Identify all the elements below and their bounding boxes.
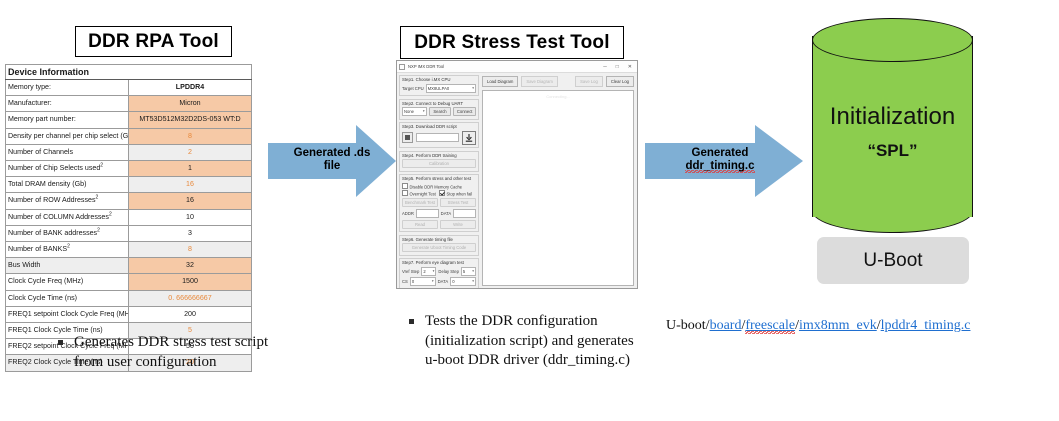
log-toolbar: Load Diagram Save Diagram Save Log Clear… xyxy=(482,76,634,87)
row-value: 8 xyxy=(129,128,252,144)
table-row: Memory type:LPDDR4 xyxy=(6,80,252,96)
row-label: Number of ROW Addresses2 xyxy=(6,193,129,209)
table-row: Number of Channels2 xyxy=(6,144,252,160)
window-controls[interactable]: ─ □ ✕ xyxy=(603,64,635,70)
chevron-down-icon: ▾ xyxy=(472,269,474,274)
step3-row xyxy=(402,131,476,145)
write-eye-button[interactable]: WRITE EYE xyxy=(440,288,476,290)
path-link-freescale[interactable]: freescale xyxy=(745,318,795,334)
row-value: 200 xyxy=(129,306,252,322)
chevron-down-icon: ▾ xyxy=(432,279,434,284)
initialization-spl-cylinder: Initialization “SPL” xyxy=(812,18,975,235)
step5-caption: Step5. Perform stress and other test xyxy=(402,176,476,181)
eye-data-label: DATA xyxy=(438,279,449,284)
connect-button[interactable]: Connect xyxy=(453,107,476,116)
stress-test-button[interactable]: Stress Test xyxy=(440,198,476,207)
step6-caption: Step6. Generate timing file xyxy=(402,237,476,242)
bullet-item: Generates DDR stress test script from us… xyxy=(54,333,289,372)
step2-row: None ▾ Search Connect xyxy=(402,107,476,116)
cylinder-text: Initialization “SPL” xyxy=(812,103,973,162)
row-value: 16 xyxy=(129,193,252,209)
save-log-button[interactable]: Save Log xyxy=(575,76,603,87)
row-label: Number of Chip Selects used2 xyxy=(6,161,129,177)
row-label: Number of BANK addresses2 xyxy=(6,225,129,241)
disable-cache-checkbox[interactable] xyxy=(402,183,408,189)
overnight-stopfail-row[interactable]: Overnight Test Stop when fail xyxy=(402,190,476,197)
arrow1-label-line2: file xyxy=(324,160,341,172)
row-label-superscript: 2 xyxy=(109,211,112,217)
row-value: 0. 666666667 xyxy=(129,290,252,306)
uart-port-select[interactable]: None ▾ xyxy=(402,107,427,116)
row-label: Memory type: xyxy=(6,80,129,96)
path-link-lpddr4-timing-c[interactable]: lpddr4_timing.c xyxy=(881,318,971,333)
row-value: 10 xyxy=(129,209,252,225)
step1-group: Step1. Choose i.MX CPU Target CPU MX8ULP… xyxy=(399,75,479,96)
delay-step-label: Delay Step xyxy=(438,269,458,274)
addr-input[interactable] xyxy=(416,209,439,218)
row-value: LPDDR4 xyxy=(129,80,252,96)
arrow1-label-line1: Generated .ds xyxy=(294,147,371,159)
table-header-row: Device Information xyxy=(6,65,252,80)
save-diagram-button[interactable]: Save Diagram xyxy=(521,76,558,87)
step4-row: Calibration xyxy=(402,159,476,168)
step4-group: Step4. Perform DDR training Calibration xyxy=(399,151,479,172)
minimize-icon[interactable]: ─ xyxy=(603,64,607,70)
eye-data-value: 0 xyxy=(452,279,454,284)
arrow-generated-ds-file: Generated .ds file xyxy=(268,125,396,197)
step6-group: Step6. Generate timing file Generate Ubo… xyxy=(399,235,479,256)
cs-select[interactable]: 0 ▾ xyxy=(410,277,436,286)
row-label: Clock Cycle Freq (MHz) xyxy=(6,274,129,290)
ddr-script-path-input[interactable] xyxy=(416,133,459,142)
step6-row: Generate Uboot Timing Code xyxy=(402,243,476,252)
table-row: Manufacturer:Micron xyxy=(6,96,252,112)
ddr-rpa-tool-title: DDR RPA Tool xyxy=(75,26,232,57)
browse-file-icon[interactable] xyxy=(402,132,413,143)
stop-when-fail-label: Stop when fail xyxy=(446,192,472,197)
step7-vref-row: Vref Step 2 ▾ Delay Step 5 ▾ xyxy=(402,267,476,276)
delay-step-select[interactable]: 5 ▾ xyxy=(461,267,476,276)
step7-group: Step7. Perform eye diagram test Vref Ste… xyxy=(399,258,479,289)
uboot-source-path: U-boot/board/freescale/imx8mm_evk/lpddr4… xyxy=(666,318,1059,334)
step4-caption: Step4. Perform DDR training xyxy=(402,153,476,158)
table-row: Bus Width32 xyxy=(6,258,252,274)
uart-port-value: None xyxy=(404,109,414,114)
step7-cs-row: CS 0 ▾ DATA 0 ▾ xyxy=(402,277,476,286)
device-information-table: Device Information Memory type:LPDDR4Man… xyxy=(5,64,252,372)
row-label: Number of COLUMN Addresses2 xyxy=(6,209,129,225)
step3-group: Step3. Download DDR script xyxy=(399,122,479,148)
table-row: Clock Cycle Freq (MHz)1500 xyxy=(6,274,252,290)
uboot-label: U-Boot xyxy=(863,250,922,272)
bullet-item: Tests the DDR configuration (initializat… xyxy=(405,312,643,371)
disable-cache-checkbox-row[interactable]: Disable DDR Memory Cache xyxy=(402,183,476,190)
step3-caption: Step3. Download DDR script xyxy=(402,124,476,129)
row-value: 16 xyxy=(129,177,252,193)
row-value: 8 xyxy=(129,242,252,258)
write-button[interactable]: Write xyxy=(440,220,476,229)
chevron-down-icon: ▾ xyxy=(472,279,474,284)
read-eye-button[interactable]: READ EYE xyxy=(402,288,438,290)
step2-caption: Step2. Connect to Debug UART xyxy=(402,101,476,106)
arrow2-label: Generated ddr_timing.c xyxy=(637,147,803,173)
log-placeholder-text: Connecting... xyxy=(546,94,570,99)
step7-eye-buttons: READ EYE WRITE EYE xyxy=(402,288,476,290)
cs-value: 0 xyxy=(412,279,414,284)
benchmark-test-button[interactable]: Benchmark Test xyxy=(402,198,438,207)
log-panel: Load Diagram Save Diagram Save Log Clear… xyxy=(481,73,637,289)
table-row: Number of BANKS28 xyxy=(6,242,252,258)
app-icon xyxy=(399,64,405,70)
row-value: 1 xyxy=(129,161,252,177)
arrow2-label-line1: Generated xyxy=(692,147,749,159)
vref-step-value: 2 xyxy=(423,269,425,274)
read-button[interactable]: Read xyxy=(402,220,438,229)
path-link-board[interactable]: board xyxy=(710,318,742,333)
close-icon[interactable]: ✕ xyxy=(628,64,632,70)
row-label: Memory part number: xyxy=(6,112,129,128)
table-row: Memory part number:MT53D512M32D2DS-053 W… xyxy=(6,112,252,128)
disable-cache-label: Disable DDR Memory Cache xyxy=(410,184,463,189)
step1-caption: Step1. Choose i.MX CPU xyxy=(402,77,476,82)
row-label: Bus Width xyxy=(6,258,129,274)
cs-label: CS xyxy=(402,279,408,284)
row-label-superscript: 2 xyxy=(100,163,103,169)
table-row: Clock Cycle Time (ns)0. 666666667 xyxy=(6,290,252,306)
addr-label: ADDR xyxy=(402,211,414,216)
window-titlebar: NXP IMX DDR Tool ─ □ ✕ xyxy=(397,61,637,73)
row-label: FREQ1 setpoint Clock Cycle Freq (MHz) xyxy=(6,306,129,322)
step1-row: Target CPU MX8ULPA0 ▾ xyxy=(402,84,476,93)
table-row: Density per channel per chip select (Gb)… xyxy=(6,128,252,144)
row-label: Density per channel per chip select (Gb)… xyxy=(6,128,129,144)
rpa-tool-description: Generates DDR stress test script from us… xyxy=(54,333,289,372)
row-label: Number of Channels xyxy=(6,144,129,160)
search-button[interactable]: Search xyxy=(429,107,452,116)
vref-step-label: Vref Step xyxy=(402,269,419,274)
delay-step-value: 5 xyxy=(463,269,465,274)
download-icon[interactable] xyxy=(462,131,476,145)
table-row: Number of BANK addresses23 xyxy=(6,225,252,241)
table-row: Number of Chip Selects used21 xyxy=(6,161,252,177)
step5-group: Step5. Perform stress and other test Dis… xyxy=(399,174,479,232)
step7-caption: Step7. Perform eye diagram test xyxy=(402,260,476,265)
window-title: NXP IMX DDR Tool xyxy=(408,64,444,69)
row-value: 3 xyxy=(129,225,252,241)
row-label: Manufacturer: xyxy=(6,96,129,112)
table-row: Number of COLUMN Addresses210 xyxy=(6,209,252,225)
target-cpu-value: MX8ULPA0 xyxy=(428,86,450,91)
row-label-superscript: 2 xyxy=(96,195,99,201)
row-label: Number of BANKS2 xyxy=(6,242,129,258)
stress-tool-description: Tests the DDR configuration (initializat… xyxy=(405,312,643,371)
window-body: Step1. Choose i.MX CPU Target CPU MX8ULP… xyxy=(397,73,637,289)
log-textarea[interactable]: Connecting... xyxy=(482,90,634,286)
overnight-test-checkbox[interactable] xyxy=(402,190,408,196)
chevron-down-icon: ▾ xyxy=(472,86,474,91)
row-label-superscript: 2 xyxy=(67,244,70,250)
chevron-down-icon: ▾ xyxy=(433,269,435,274)
ddr-stress-test-tool-window[interactable]: NXP IMX DDR Tool ─ □ ✕ Step1. Choose i.M… xyxy=(396,60,638,289)
arrow1-label: Generated .ds file xyxy=(268,147,396,173)
row-value: Micron xyxy=(129,96,252,112)
table-row: FREQ1 setpoint Clock Cycle Freq (MHz)200 xyxy=(6,306,252,322)
cylinder-top-ellipse xyxy=(812,18,973,62)
vref-step-select[interactable]: 2 ▾ xyxy=(421,267,436,276)
row-label: Clock Cycle Time (ns) xyxy=(6,290,129,306)
ddr-stress-test-tool-title: DDR Stress Test Tool xyxy=(400,26,624,59)
chevron-down-icon: ▾ xyxy=(423,109,425,114)
row-value: MT53D512M32D2DS-053 WT:D xyxy=(129,112,252,128)
load-diagram-button[interactable]: Load Diagram xyxy=(482,76,518,87)
step2-group: Step2. Connect to Debug UART None ▾ Sear… xyxy=(399,99,479,120)
step5-rw-row: Read Write xyxy=(402,220,476,229)
target-cpu-label: Target CPU xyxy=(402,86,424,91)
row-value: 32 xyxy=(129,258,252,274)
table-row: Total DRAM density (Gb)16 xyxy=(6,177,252,193)
eye-data-select[interactable]: 0 ▾ xyxy=(450,277,476,286)
cylinder-title: Initialization xyxy=(812,103,973,131)
step5-addr-data-row: ADDR DATA xyxy=(402,209,476,218)
step5-test-buttons: Benchmark Test Stress Test xyxy=(402,198,476,207)
row-value: 2 xyxy=(129,144,252,160)
calibration-button[interactable]: Calibration xyxy=(402,159,476,168)
generate-uboot-timing-code-button[interactable]: Generate Uboot Timing Code xyxy=(402,243,476,252)
path-link-imx8mm-evk[interactable]: imx8mm_evk xyxy=(799,318,877,333)
data-input[interactable] xyxy=(453,209,476,218)
target-cpu-select[interactable]: MX8ULPA0 ▾ xyxy=(426,84,476,93)
path-prefix: U-boot xyxy=(666,318,706,333)
row-value: 1500 xyxy=(129,274,252,290)
arrow2-label-line2: ddr_timing.c xyxy=(685,160,754,173)
table-row: Number of ROW Addresses216 xyxy=(6,193,252,209)
table-header-cell: Device Information xyxy=(6,65,252,80)
maximize-icon[interactable]: □ xyxy=(616,64,619,70)
row-label: Total DRAM density (Gb) xyxy=(6,177,129,193)
row-label-superscript: 2 xyxy=(97,227,100,233)
overnight-test-label: Overnight Test xyxy=(410,192,436,197)
clear-log-button[interactable]: Clear Log xyxy=(606,76,634,87)
cylinder-subtitle: “SPL” xyxy=(812,140,973,162)
arrow-generated-ddr-timing-c: Generated ddr_timing.c xyxy=(645,125,803,197)
data-label: DATA xyxy=(441,211,452,216)
uboot-box: U-Boot xyxy=(817,237,969,284)
stop-when-fail-checkbox[interactable] xyxy=(439,190,445,196)
steps-panel: Step1. Choose i.MX CPU Target CPU MX8ULP… xyxy=(397,73,481,289)
